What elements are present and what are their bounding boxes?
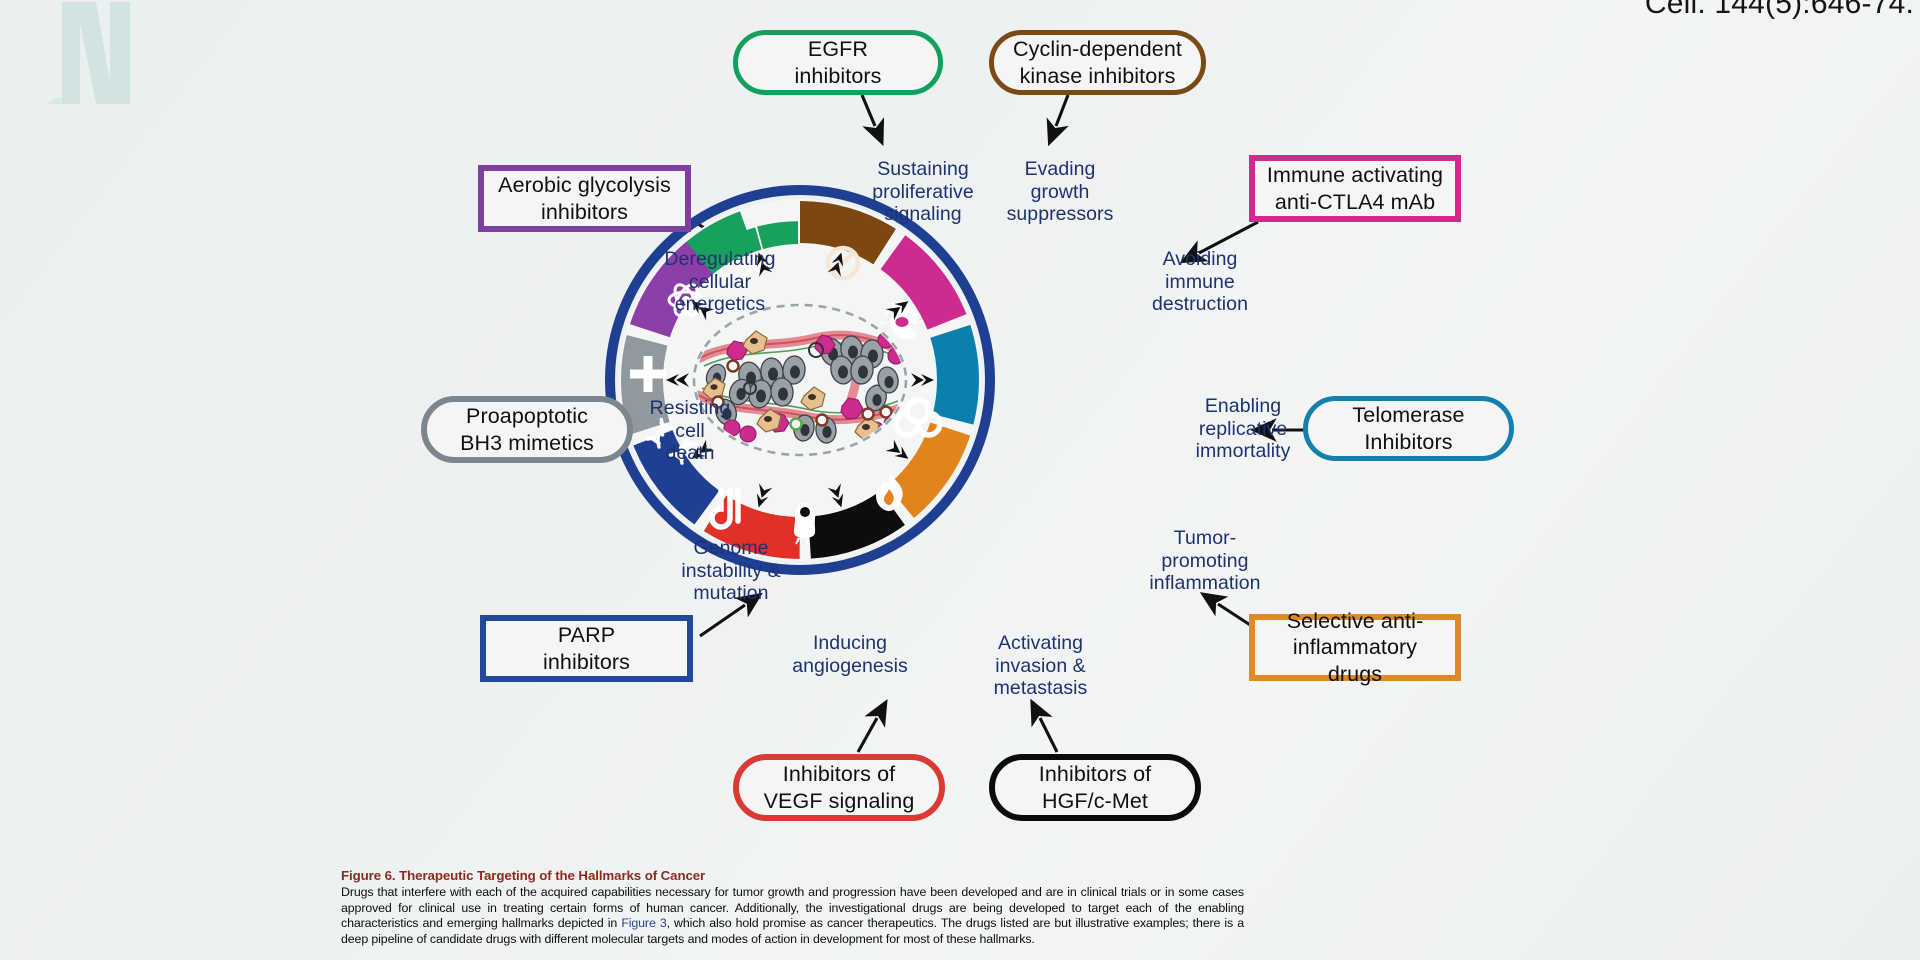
drug-box-hgf[interactable]: Inhibitors ofHGF/c-Met — [989, 754, 1201, 821]
drug-box-cdk[interactable]: Cyclin-dependentkinase inhibitors — [989, 30, 1206, 95]
drug-box-parp[interactable]: PARPinhibitors — [480, 615, 693, 682]
hallmark-label-celldeath: Resistingcelldeath — [610, 397, 770, 465]
drug-box-ctla4[interactable]: Immune activatinganti-CTLA4 mAb — [1249, 155, 1461, 222]
figure-caption: Figure 6. Therapeutic Targeting of the H… — [341, 868, 1244, 947]
figure-page: Cell. 144(5):646-74. — [0, 0, 1920, 960]
caption-figure-reference[interactable]: Figure 3 — [621, 916, 666, 930]
hallmarks-wheel — [600, 180, 1000, 580]
hallmark-label-invasion: Activatinginvasion &metastasis — [953, 632, 1128, 700]
caption-title: Figure 6. Therapeutic Targeting of the H… — [341, 868, 1244, 883]
drug-box-glycolysis[interactable]: Aerobic glycolysisinhibitors — [478, 165, 691, 232]
drug-box-bh3[interactable]: ProapoptoticBH3 mimetics — [421, 396, 633, 463]
caption-body: Drugs that interfere with each of the ac… — [341, 885, 1244, 947]
hallmark-label-genome: Genomeinstability &mutation — [636, 537, 826, 605]
drug-box-egfr[interactable]: EGFRinhibitors — [733, 30, 943, 95]
drug-box-antiinflammatory[interactable]: Selective anti-inflammatory drugs — [1249, 614, 1461, 681]
citation-text: Cell. 144(5):646-74. — [1645, 0, 1914, 21]
drug-box-telomerase[interactable]: TelomeraseInhibitors — [1303, 396, 1514, 461]
n-logo-watermark — [18, 0, 193, 116]
hallmark-label-energetics: Deregulatingcellularenergetics — [625, 248, 815, 316]
hallmark-label-immune: Avoidingimmunedestruction — [1110, 248, 1290, 316]
hallmark-label-inflammation: Tumor-promotinginflammation — [1110, 527, 1300, 595]
hallmark-label-angiogenesis: Inducingangiogenesis — [760, 632, 940, 677]
drug-box-vegf[interactable]: Inhibitors ofVEGF signaling — [733, 754, 945, 821]
hallmark-label-evading: Evadinggrowthsuppressors — [975, 158, 1145, 226]
